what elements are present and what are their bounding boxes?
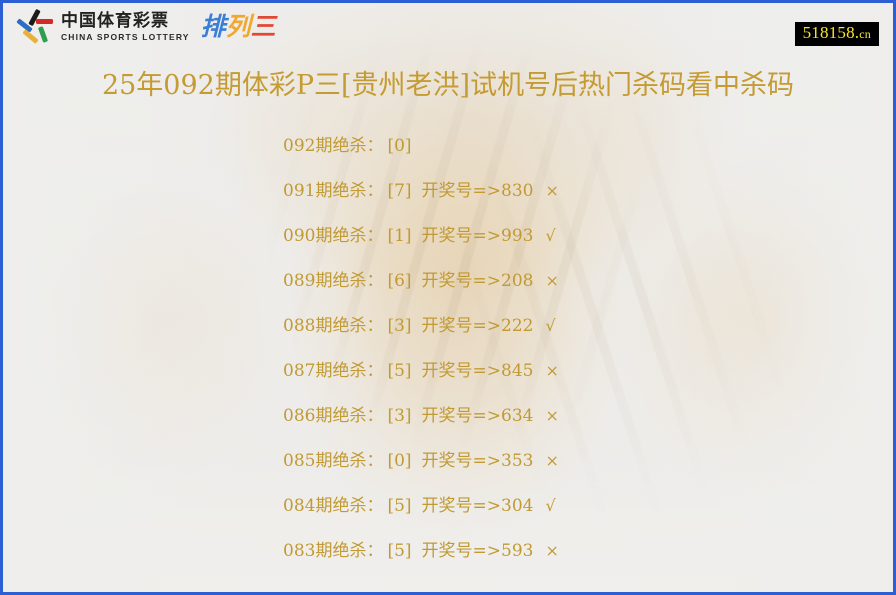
row-colon: ： (366, 226, 383, 246)
draw-result: 开奖号=>208 (422, 271, 534, 291)
game-logo-char-1: 排 (201, 12, 226, 41)
kill-number: [0] (387, 136, 411, 156)
page-title: 25年092期体彩P三[贵州老洪]试机号后热门杀码看中杀码 (3, 63, 893, 102)
row-colon: ： (366, 271, 383, 291)
brand-lockup: 中国体育彩票 CHINA SPORTS LOTTERY 排列三 (16, 9, 276, 45)
row-label: 期绝杀 (315, 316, 366, 336)
row-colon: ： (366, 496, 383, 516)
draw-result: 开奖号=>993 (422, 226, 534, 246)
list-item: 092期绝杀：[0] (3, 123, 893, 168)
issue-number: 086 (283, 406, 315, 426)
issue-number: 088 (283, 316, 315, 336)
watermark-tld: cn (859, 27, 871, 41)
kill-number: [5] (387, 541, 411, 561)
issue-number: 092 (283, 136, 315, 156)
kill-number: [0] (387, 451, 411, 471)
result-mark: × (545, 541, 558, 560)
row-label: 期绝杀 (315, 541, 366, 561)
logo-stroke-red (36, 19, 53, 24)
list-item: 088期绝杀：[3]开奖号=>222√ (3, 303, 893, 348)
row-colon: ： (366, 181, 383, 201)
china-sports-lottery-logo-icon (16, 9, 54, 45)
issue-number: 083 (283, 541, 315, 561)
prediction-list: 092期绝杀：[0] 091期绝杀：[7]开奖号=>830× 090期绝杀：[1… (3, 123, 893, 573)
game-logo-char-3: 三 (251, 12, 276, 41)
row-label: 期绝杀 (315, 406, 366, 426)
issue-number: 089 (283, 271, 315, 291)
kill-number: [6] (387, 271, 411, 291)
kill-number: [3] (387, 316, 411, 336)
game-logo-char-2: 列 (226, 12, 251, 41)
draw-result: 开奖号=>222 (422, 316, 534, 336)
kill-number: [7] (387, 181, 411, 201)
result-mark: √ (545, 496, 555, 515)
result-mark: × (545, 451, 558, 470)
list-item: 090期绝杀：[1]开奖号=>993√ (3, 213, 893, 258)
draw-result: 开奖号=>634 (422, 406, 534, 426)
lottery-prediction-image: 中国体育彩票 CHINA SPORTS LOTTERY 排列三 518158.c… (0, 0, 896, 595)
list-item: 084期绝杀：[5]开奖号=>304√ (3, 483, 893, 528)
draw-result: 开奖号=>593 (422, 541, 534, 561)
draw-result: 开奖号=>304 (422, 496, 534, 516)
draw-result: 开奖号=>830 (422, 181, 534, 201)
row-label: 期绝杀 (315, 361, 366, 381)
row-label: 期绝杀 (315, 451, 366, 471)
logo-stroke-green (38, 26, 48, 43)
list-item: 087期绝杀：[5]开奖号=>845× (3, 348, 893, 393)
draw-result: 开奖号=>353 (422, 451, 534, 471)
issue-number: 091 (283, 181, 315, 201)
issue-number: 087 (283, 361, 315, 381)
brand-name-english: CHINA SPORTS LOTTERY (61, 32, 190, 43)
list-item: 089期绝杀：[6]开奖号=>208× (3, 258, 893, 303)
row-label: 期绝杀 (315, 181, 366, 201)
kill-number: [5] (387, 496, 411, 516)
list-item: 091期绝杀：[7]开奖号=>830× (3, 168, 893, 213)
watermark-domain: 518158. (803, 23, 860, 42)
list-item: 086期绝杀：[3]开奖号=>634× (3, 393, 893, 438)
row-label: 期绝杀 (315, 496, 366, 516)
issue-number: 090 (283, 226, 315, 246)
kill-number: [5] (387, 361, 411, 381)
result-mark: √ (545, 316, 555, 335)
brand-name-chinese: 中国体育彩票 (61, 12, 190, 31)
game-logo-pailie-san: 排列三 (201, 12, 276, 42)
row-label: 期绝杀 (315, 136, 366, 156)
row-colon: ： (366, 316, 383, 336)
result-mark: × (545, 181, 558, 200)
row-colon: ： (366, 406, 383, 426)
kill-number: [3] (387, 406, 411, 426)
header-bar: 中国体育彩票 CHINA SPORTS LOTTERY 排列三 518158.c… (3, 3, 893, 55)
result-mark: × (545, 361, 558, 380)
kill-number: [1] (387, 226, 411, 246)
issue-number: 085 (283, 451, 315, 471)
row-colon: ： (366, 451, 383, 471)
result-mark: × (545, 271, 558, 290)
list-item: 083期绝杀：[5]开奖号=>593× (3, 528, 893, 573)
row-colon: ： (366, 361, 383, 381)
result-mark: × (545, 406, 558, 425)
row-label: 期绝杀 (315, 271, 366, 291)
draw-result: 开奖号=>845 (422, 361, 534, 381)
row-label: 期绝杀 (315, 226, 366, 246)
site-watermark: 518158.cn (795, 22, 879, 46)
issue-number: 084 (283, 496, 315, 516)
list-item: 085期绝杀：[0]开奖号=>353× (3, 438, 893, 483)
row-colon: ： (366, 541, 383, 561)
brand-wordmark: 中国体育彩票 CHINA SPORTS LOTTERY (61, 12, 190, 43)
result-mark: √ (545, 226, 555, 245)
row-colon: ： (366, 136, 383, 156)
